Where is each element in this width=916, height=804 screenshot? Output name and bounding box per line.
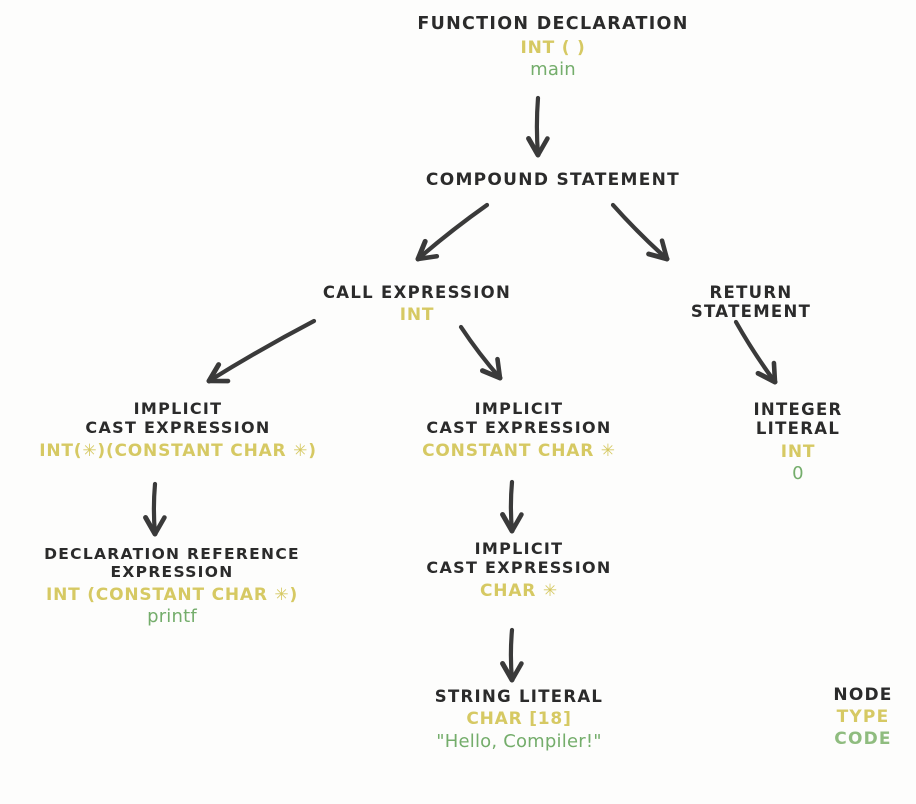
node-title: FUNCTION DECLARATION [417,14,688,35]
node-type: CHAR [18] [435,709,603,729]
node-title: CALL EXPRESSION [323,283,511,302]
node-type: INT [739,442,857,462]
node-title: INTEGER LITERAL [739,400,857,439]
node-type: INT [323,305,511,325]
ast-node-integer-literal: INTEGER LITERALINT0 [739,400,857,484]
node-title: IMPLICIT CAST EXPRESSION [426,540,611,578]
node-type: INT (CONSTANT CHAR ✳) [44,585,300,605]
node-title: STRING LITERAL [435,687,603,706]
ast-node-compound-statement: COMPOUND STATEMENT [426,170,680,190]
node-title: RETURN STATEMENT [669,283,834,322]
edge-cast-char-to-stringliteral [503,630,522,680]
ast-node-call-expression: CALL EXPRESSIONINT [323,283,511,326]
legend-type-label: TYPE [833,707,892,729]
edge-cast-funcptr-to-declref [146,484,165,534]
edge-cast-constchar-to-cast-char [503,482,522,531]
node-type: CHAR ✳ [426,581,611,601]
node-title: DECLARATION REFERENCE EXPRESSION [44,545,300,582]
node-title: COMPOUND STATEMENT [426,170,680,190]
node-code: "Hello, Compiler!" [435,731,603,752]
node-title: IMPLICIT CAST EXPRESSION [39,400,317,438]
edge-compound-to-return [613,205,667,259]
edge-call-to-cast-constchar [461,327,500,378]
edge-call-to-cast-funcptr [209,321,314,381]
ast-diagram-canvas: FUNCTION DECLARATIONINT ( )mainCOMPOUND … [0,0,916,804]
ast-node-declaration-reference-expression: DECLARATION REFERENCE EXPRESSIONINT (CON… [44,545,300,627]
legend-code-label: CODE [833,729,892,751]
edge-compound-to-call [418,205,487,259]
edge-funcdecl-to-compound [529,98,548,155]
ast-node-return-statement: RETURN STATEMENT [669,283,834,322]
legend: NODE TYPE CODE [833,685,892,750]
node-type: CONSTANT CHAR ✳ [422,441,616,461]
node-title: IMPLICIT CAST EXPRESSION [422,400,616,438]
ast-node-implicit-cast-expression-funcptr: IMPLICIT CAST EXPRESSIONINT(✳)(CONSTANT … [39,400,317,461]
ast-node-implicit-cast-expression-constchar: IMPLICIT CAST EXPRESSIONCONSTANT CHAR ✳ [422,400,616,461]
node-type: INT(✳)(CONSTANT CHAR ✳) [39,441,317,461]
ast-node-string-literal: STRING LITERALCHAR [18]"Hello, Compiler!… [435,687,603,752]
node-code: printf [44,606,300,627]
node-code: 0 [739,463,857,484]
ast-node-function-declaration: FUNCTION DECLARATIONINT ( )main [417,14,688,80]
ast-node-implicit-cast-expression-char: IMPLICIT CAST EXPRESSIONCHAR ✳ [426,540,611,601]
legend-node-label: NODE [833,685,892,707]
node-code: main [417,59,688,80]
edge-return-to-intliteral [736,322,775,382]
node-type: INT ( ) [417,38,688,58]
